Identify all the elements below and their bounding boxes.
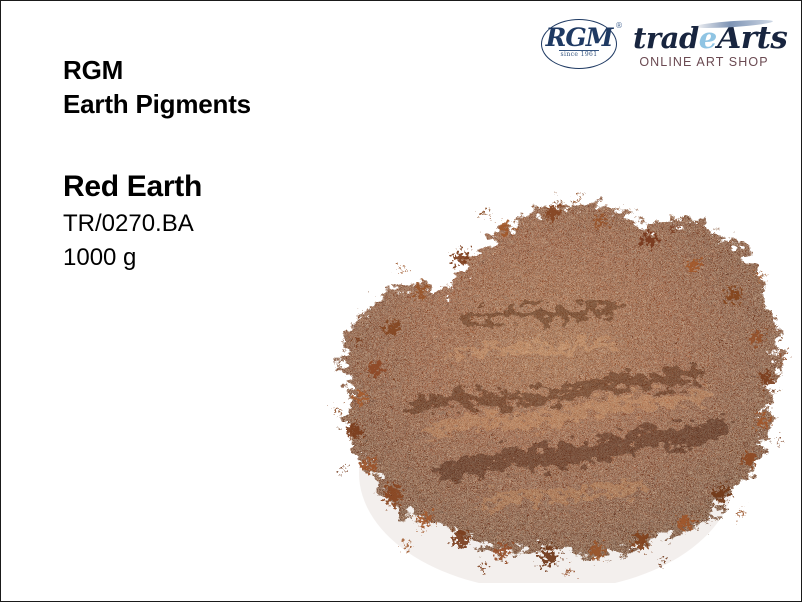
product-category: Earth Pigments xyxy=(63,87,363,121)
tradearts-wordmark: tradeArts ONLINE ART SHOP xyxy=(633,19,775,69)
pigment-powder-image xyxy=(297,173,797,583)
pigment-powder-illustration xyxy=(297,173,797,583)
brand-logo: RGM since 1961 ® tradeArts ONLINE ART SH… xyxy=(543,9,775,79)
product-image-card: RGM since 1961 ® tradeArts ONLINE ART SH… xyxy=(0,0,802,602)
wordmark-trad: trad xyxy=(633,21,699,55)
rgm-since-text: since 1961 xyxy=(539,51,619,58)
rgm-monogram-letters: RGM xyxy=(539,24,619,52)
brand-name: RGM xyxy=(63,53,363,87)
rgm-monogram-icon: RGM since 1961 ® xyxy=(539,15,623,73)
wordmark-tagline: ONLINE ART SHOP xyxy=(633,55,775,69)
tradearts-script: tradeArts xyxy=(633,19,775,57)
registered-trademark-icon: ® xyxy=(615,21,623,30)
